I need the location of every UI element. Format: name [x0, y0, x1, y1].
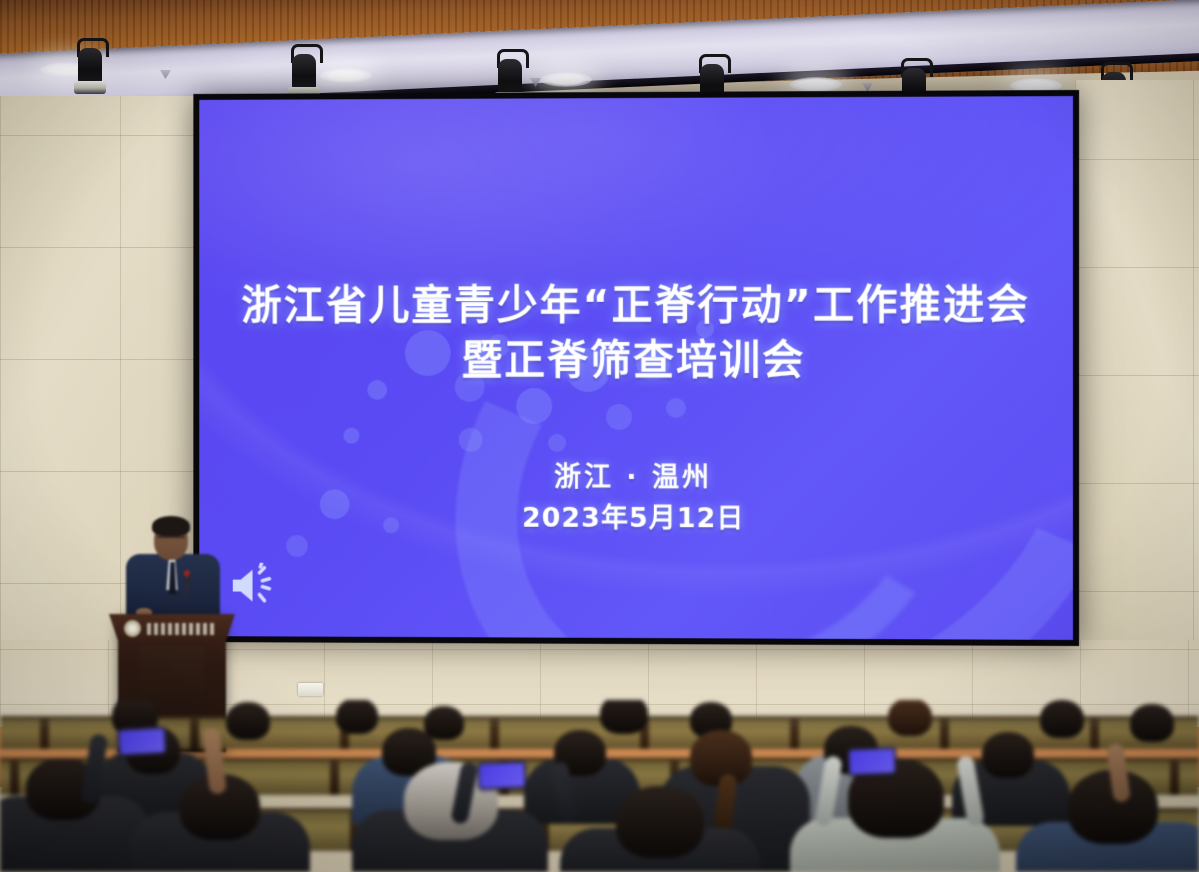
- wall-right-tiles: [1075, 80, 1199, 700]
- ceiling-downlight-icon: [790, 77, 842, 92]
- audience-head: [600, 700, 648, 734]
- audience-head: [1040, 700, 1084, 738]
- bokeh-circle: [548, 434, 566, 452]
- ceiling-downlight-icon: [320, 68, 372, 83]
- audience-head: [226, 702, 270, 740]
- audience-head: [616, 786, 704, 858]
- audience-head: [336, 700, 378, 734]
- audience-head: [424, 706, 464, 740]
- audience-head: [888, 700, 932, 736]
- smartphone-icon[interactable]: [848, 747, 897, 776]
- presenter-hair: [152, 516, 190, 536]
- audience-head: [1130, 704, 1174, 742]
- presenter-at-podium: [118, 512, 230, 622]
- bokeh-circle: [666, 398, 686, 418]
- bokeh-circle: [343, 428, 359, 444]
- speaker-volume-icon: [229, 563, 280, 609]
- stage-spotlight-icon: [74, 44, 106, 100]
- presenter-glasses: [157, 536, 185, 544]
- slide-subtitle: 浙江 · 温州 2023年5月12日: [199, 457, 1073, 540]
- slide-title-line-1: 浙江省儿童青少年“正脊行动”工作推进会: [241, 280, 1030, 329]
- smartphone-icon[interactable]: [478, 761, 527, 790]
- audience-head: [982, 732, 1034, 778]
- bokeh-circle: [459, 428, 483, 452]
- bokeh-circle: [606, 404, 632, 430]
- ceiling-downlight-icon: [540, 72, 592, 87]
- podium-emblem: [124, 620, 141, 637]
- bokeh-circle: [516, 388, 552, 424]
- wall-outlet-icon: [298, 683, 323, 696]
- smartphone-icon[interactable]: [117, 727, 166, 756]
- audience-area: [0, 700, 1199, 872]
- slide-title-line-2: 暨正脊筛查培训会: [199, 333, 1073, 388]
- slide-location: 浙江 · 温州: [554, 462, 712, 493]
- projection-screen-frame: 浙江省儿童青少年“正脊行动”工作推进会 暨正脊筛查培训会 浙江 · 温州 202…: [193, 90, 1079, 646]
- bokeh-circle: [286, 535, 308, 557]
- projection-screen: 浙江省儿童青少年“正脊行动”工作推进会 暨正脊筛查培训会 浙江 · 温州 202…: [199, 96, 1073, 640]
- auditorium-scene: 浙江省儿童青少年“正脊行动”工作推进会 暨正脊筛查培训会 浙江 · 温州 202…: [0, 0, 1199, 872]
- slide-date: 2023年5月12日: [199, 498, 1073, 541]
- podium-plaque: [147, 623, 217, 635]
- slide-title: 浙江省儿童青少年“正脊行动”工作推进会 暨正脊筛查培训会: [199, 277, 1073, 388]
